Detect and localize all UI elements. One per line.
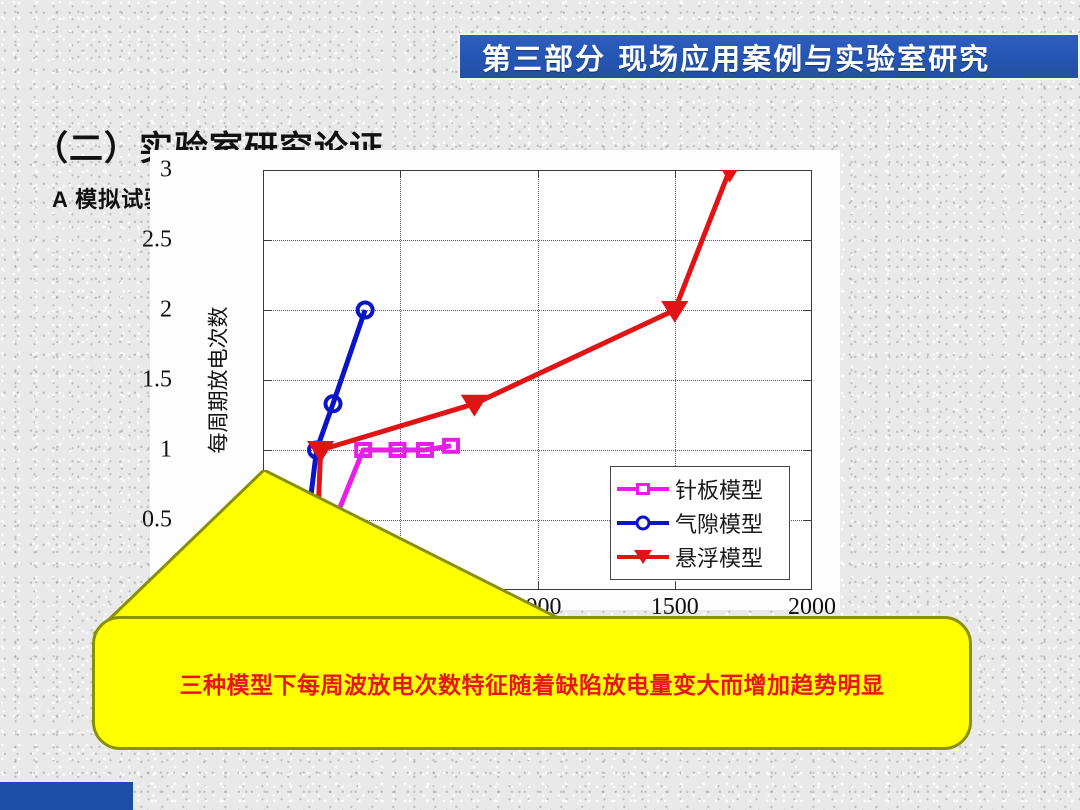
callout-annotation: 三种模型下每周波放电次数特征随着缺陷放电量变大而增加趋势明显 [86, 470, 986, 800]
y-axis-label: 每周期放电次数 [203, 307, 233, 454]
callout-box: 三种模型下每周波放电次数特征随着缺陷放电量变大而增加趋势明显 [92, 616, 972, 750]
y-tick-label: 2.5 [142, 227, 172, 254]
y-tick-label: 2 [160, 297, 172, 324]
footer-corner-block [0, 782, 133, 810]
chart-data-point [464, 397, 484, 413]
y-tick-label: 1.5 [142, 367, 172, 394]
callout-text: 三种模型下每周波放电次数特征随着缺陷放电量变大而增加趋势明显 [180, 666, 885, 700]
chart-data-point [665, 303, 685, 319]
y-tick-label: 1 [160, 437, 172, 464]
chart-data-point [720, 170, 740, 179]
y-tick-label: 3 [160, 157, 172, 184]
header-banner-title: 第三部分 现场应用案例与实验室研究 [460, 36, 990, 78]
header-banner: 第三部分 现场应用案例与实验室研究 [458, 33, 1080, 80]
